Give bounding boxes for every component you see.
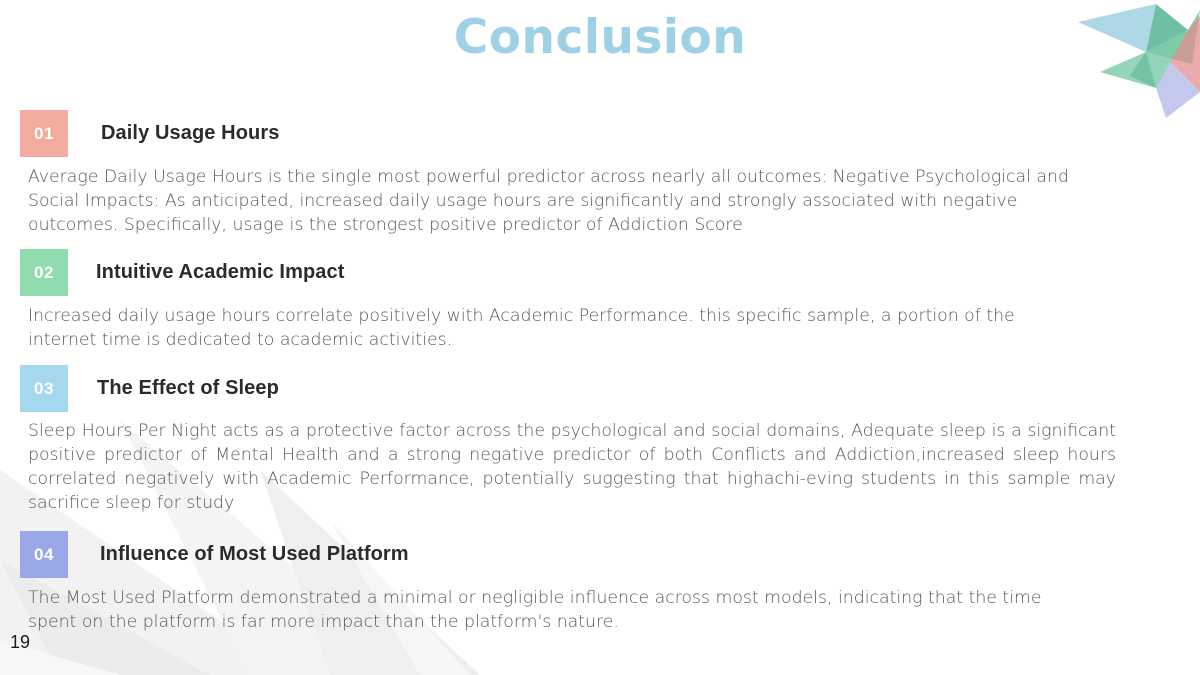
section-header: 02 Intuitive Academic Impact [0,249,1200,296]
section-header: 04 Influence of Most Used Platform [0,531,1200,578]
page-title: Conclusion [0,10,1200,65]
section-number-badge-04: 04 [20,531,68,578]
section-number-badge-03: 03 [20,365,68,412]
section-body-04: The Most Used Platform demonstrated a mi… [0,586,1200,634]
section-effect-of-sleep: 03 The Effect of Sleep Sleep Hours Per N… [0,365,1200,515]
page-number: 19 [10,632,30,653]
section-header: 03 The Effect of Sleep [0,365,1200,412]
section-body-01: Average Daily Usage Hours is the single … [0,165,1200,237]
section-number-badge-01: 01 [20,110,68,157]
slide-canvas: Conclusion 01 Daily Usage Hours Average … [0,0,1200,675]
section-body-03: Sleep Hours Per Night acts as a protecti… [0,419,1200,515]
section-body-02: Increased daily usage hours correlate po… [0,304,1200,352]
section-number-badge-02: 02 [20,249,68,296]
section-title-02: Intuitive Academic Impact [96,261,345,284]
section-title-01: Daily Usage Hours [101,122,279,145]
section-title-03: The Effect of Sleep [97,377,279,400]
section-header: 01 Daily Usage Hours [0,110,1200,157]
section-title-04: Influence of Most Used Platform [100,543,409,566]
section-intuitive-academic-impact: 02 Intuitive Academic Impact Increased d… [0,249,1200,352]
section-influence-of-platform: 04 Influence of Most Used Platform The M… [0,531,1200,634]
conclusion-sections: 01 Daily Usage Hours Average Daily Usage… [0,110,1200,634]
section-daily-usage-hours: 01 Daily Usage Hours Average Daily Usage… [0,110,1200,237]
